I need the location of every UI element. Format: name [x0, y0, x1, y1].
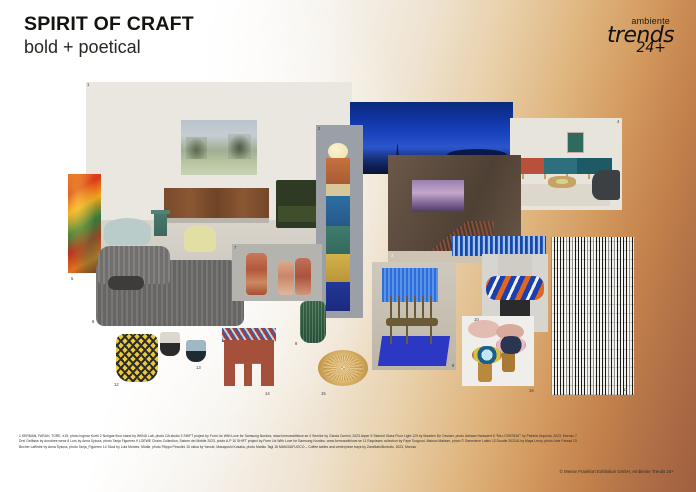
stool-body	[224, 340, 274, 386]
pink-table-a	[468, 320, 500, 338]
yellow-basket	[116, 334, 158, 382]
cup-white-black	[160, 332, 180, 356]
landscape-painting	[181, 120, 257, 175]
enamel-disc-top	[472, 346, 502, 364]
walnut-sideboard	[164, 188, 269, 218]
woven-tray	[318, 350, 368, 386]
label-number-16: 16	[529, 389, 534, 393]
tile-black-white-textile	[551, 237, 634, 395]
tile-windsor-chair-blue	[372, 262, 456, 370]
label-number-14: 14	[265, 392, 270, 396]
cup-blue	[186, 340, 206, 362]
label-number-15: 15	[321, 392, 326, 396]
tile-colour-sideboard-interior	[510, 118, 622, 210]
dark-armchair	[592, 170, 620, 200]
moodboard-page: SPIRIT OF CRAFT bold + poetical ambiente…	[0, 0, 696, 492]
label-number-9: 9	[452, 364, 454, 368]
purple-screen	[412, 180, 464, 212]
blue-fringe-textile	[452, 236, 546, 256]
tile-green-ribbed-vase	[298, 297, 328, 343]
tile-pink-disc-tables	[462, 316, 534, 386]
label-number-4: 4	[617, 120, 619, 124]
label-number-2: 2	[318, 127, 320, 131]
label-number-1: 1	[87, 83, 89, 87]
label-number-3: 3	[391, 254, 393, 258]
tile-terracotta-vases	[232, 244, 322, 301]
credits-text: 1 KERMAN, FARAH, TORE, e15, photo Ingmar…	[19, 434, 579, 450]
stool-tile-top	[222, 328, 276, 342]
armchair-opening	[108, 276, 144, 290]
green-wall-art	[567, 132, 584, 153]
vase-left	[246, 253, 267, 295]
blue-pouf	[104, 218, 151, 245]
moodboard-collage: 1 4 3	[0, 0, 696, 492]
copyright-notice: © Messe Frankfurt Exhibition GmbH, Ambie…	[560, 469, 674, 474]
label-number-5: 5	[71, 277, 73, 281]
label-number-8: 8	[295, 342, 297, 346]
tile-ceramic-cups	[160, 330, 220, 370]
vase-middle	[278, 261, 294, 295]
label-number-10: 10	[474, 318, 479, 322]
green-vase	[300, 301, 326, 343]
patterned-bag	[486, 276, 544, 300]
tile-woven-round-tray	[318, 350, 368, 390]
tile-terracotta-stool	[222, 328, 276, 386]
tile-yellow-woven-basket	[116, 330, 158, 382]
tile-striped-totem-lamp	[316, 125, 363, 318]
label-number-6: 6	[92, 320, 94, 324]
totem-lamp	[326, 143, 350, 311]
label-number-13: 13	[196, 366, 201, 370]
label-number-11: 11	[623, 388, 627, 392]
green-side-table	[154, 210, 167, 236]
windsor-chair	[386, 296, 438, 344]
vase-right	[295, 258, 311, 295]
label-number-12: 12	[114, 383, 119, 387]
round-coffee-table	[548, 176, 576, 188]
label-number-7: 7	[234, 246, 236, 250]
